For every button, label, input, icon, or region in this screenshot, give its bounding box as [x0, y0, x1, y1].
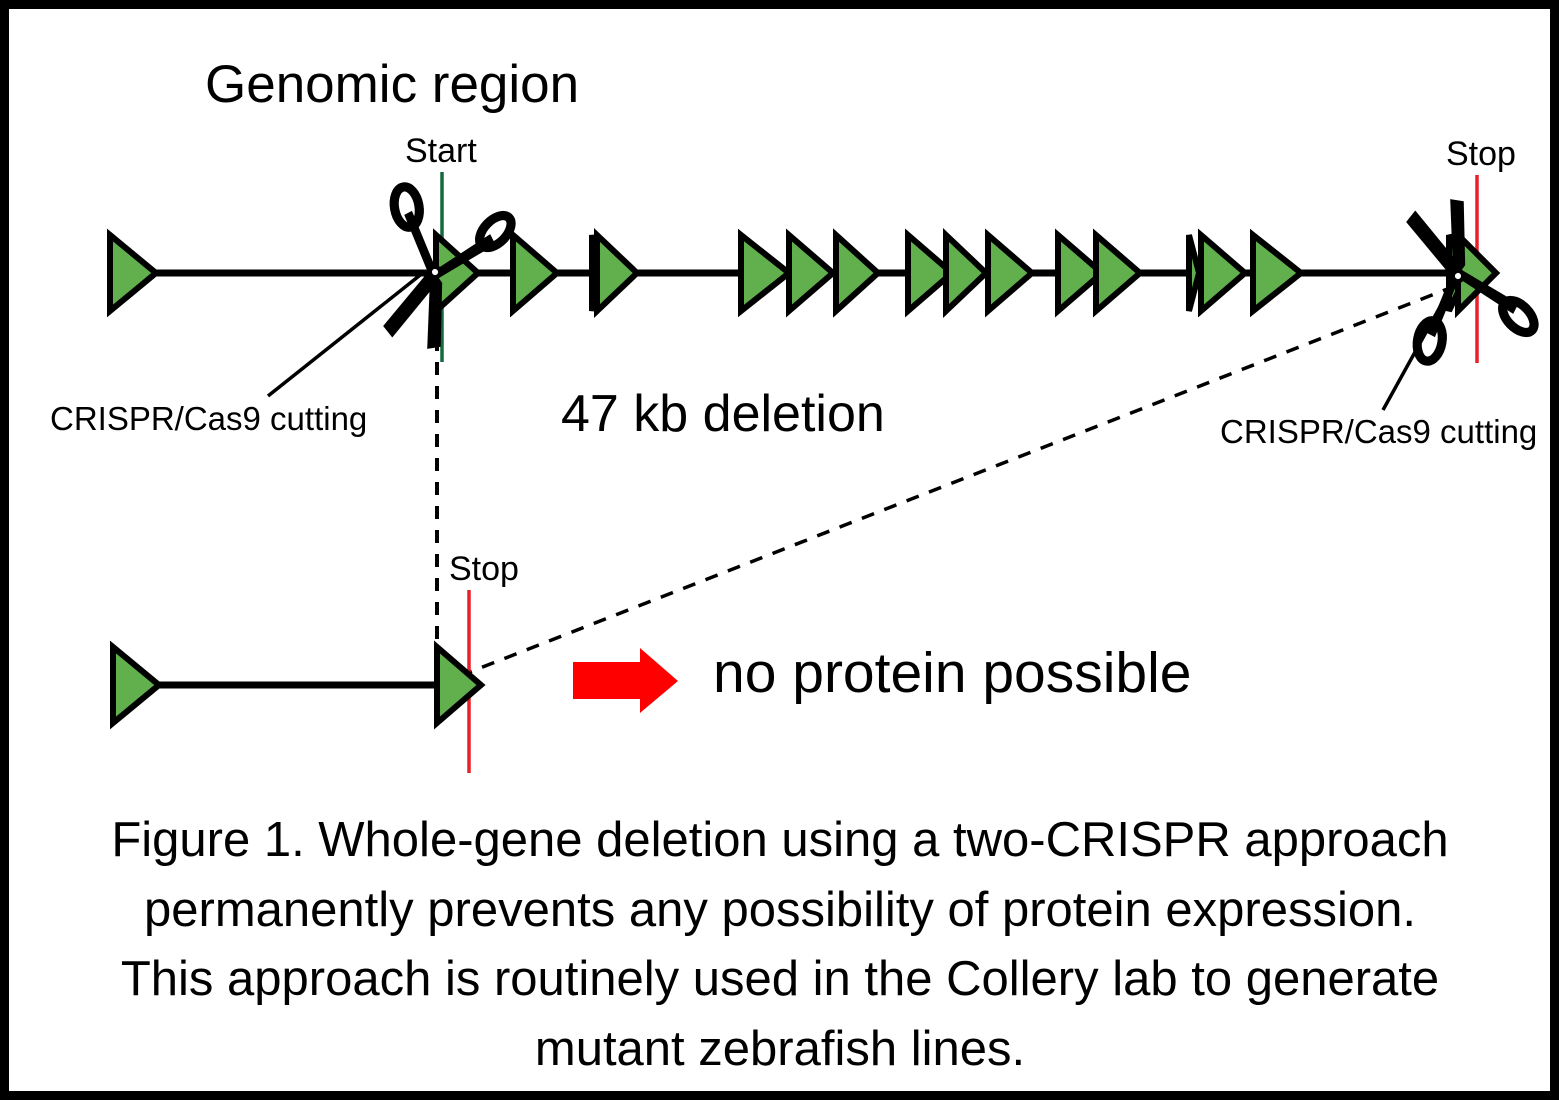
exon-triangle	[113, 647, 159, 723]
crispr-cutting-label-right: CRISPR/Cas9 cutting	[1220, 415, 1537, 448]
deletion-connector-dashed-diagonal	[470, 286, 1455, 672]
scissors-icon-right	[1371, 185, 1543, 373]
exon-triangle	[110, 235, 156, 311]
deletion-size-label: 47 kb deletion	[561, 388, 885, 440]
start-label-top: Start	[405, 134, 477, 168]
exon-triangle	[789, 235, 833, 311]
exon-triangle	[1201, 235, 1245, 311]
exon-triangle	[741, 235, 789, 311]
exon-triangle	[597, 235, 637, 311]
caption-line-1: Figure 1. Whole-gene deletion using a tw…	[30, 806, 1530, 876]
stop-label-top: Stop	[1446, 137, 1516, 171]
caption-line-2: permanently prevents any possibility of …	[30, 876, 1530, 946]
exon-triangle	[1096, 235, 1140, 311]
exon-triangle	[513, 235, 557, 311]
red-arrow-icon	[573, 648, 678, 713]
page-title: Genomic region	[205, 58, 579, 111]
caption-line-4: mutant zebrafish lines.	[30, 1015, 1530, 1085]
caption-line-3: This approach is routinely used in the C…	[30, 945, 1530, 1015]
figure-canvas: Genomic region Start Stop Stop CRISPR/Ca…	[0, 0, 1559, 1100]
no-protein-label: no protein possible	[713, 645, 1192, 702]
stop-label-bottom: Stop	[449, 552, 519, 586]
exon-triangle	[1253, 235, 1301, 311]
exon-triangle	[437, 647, 481, 723]
figure-caption: Figure 1. Whole-gene deletion using a tw…	[30, 806, 1530, 1084]
exon-triangle	[988, 235, 1032, 311]
exon-triangle	[946, 235, 986, 311]
crispr-cutting-label-left: CRISPR/Cas9 cutting	[50, 402, 367, 435]
exon-triangle	[836, 235, 878, 311]
exon-triangle	[1189, 235, 1199, 311]
crispr-leader-line-left	[268, 272, 424, 396]
